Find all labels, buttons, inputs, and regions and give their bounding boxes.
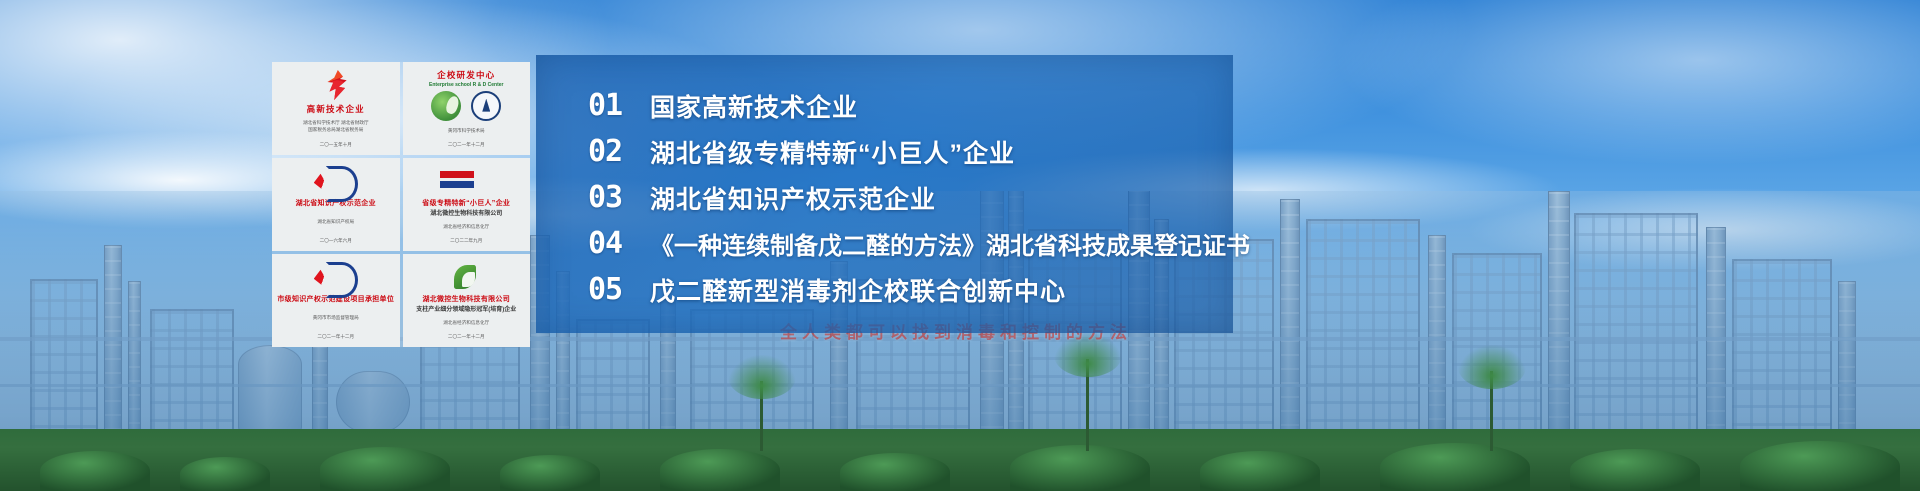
list-item-number: 02 bbox=[588, 137, 650, 167]
list-item-number: 04 bbox=[588, 229, 650, 259]
list-item: 02 湖北省级专精特新“小巨人”企业 bbox=[536, 129, 1233, 174]
certificate-issuer: 黄冈市市场监督管理局 bbox=[313, 315, 359, 324]
certificate-date: 二〇二一年十二月 bbox=[448, 334, 485, 343]
certificate-card[interactable]: 省级专精特新“小巨人”企业 湖北微控生物科技有限公司 湖北省经济和信息化厅 二〇… bbox=[403, 158, 531, 251]
certificate-issuer: 湖北省经济和信息化厅 bbox=[443, 224, 489, 233]
certificate-card[interactable]: 企校研发中心 Enterprise school R & D Center 黄冈… bbox=[403, 62, 531, 155]
certificate-date: 二〇一五年十月 bbox=[320, 142, 352, 151]
list-item: 05 戊二醛新型消毒剂企校联合创新中心 bbox=[536, 267, 1233, 312]
star-swoosh-logo-icon bbox=[312, 164, 360, 198]
list-item: 04 《一种连续制备戊二醛的方法》湖北省科技成果登记证书 bbox=[536, 221, 1233, 266]
star-swoosh-logo-icon bbox=[312, 260, 360, 294]
flame-logo-icon bbox=[323, 68, 349, 102]
certificate-subtitle: 支柱产业细分领域隐形冠军(培育)企业 bbox=[416, 306, 516, 314]
list-item-number: 05 bbox=[588, 275, 650, 305]
certificate-title: 湖北微控生物科技有限公司 bbox=[422, 296, 510, 304]
certificate-issuer: 黄冈市科学技术局 bbox=[448, 128, 485, 137]
list-item-label: 戊二醛新型消毒剂企校联合创新中心 bbox=[650, 272, 1066, 308]
list-item-label: 国家高新技术企业 bbox=[650, 88, 858, 124]
qualification-panel: 01 国家高新技术企业 02 湖北省级专精特新“小巨人”企业 03 湖北省知识产… bbox=[536, 55, 1233, 333]
certificate-subtitle: 湖北微控生物科技有限公司 bbox=[430, 210, 502, 218]
certificate-issuer: 湖北省知识产权局 bbox=[317, 219, 354, 228]
certificate-card[interactable]: 市级知识产权示范建设项目承担单位 黄冈市市场监督管理局 二〇二一年十二月 bbox=[272, 254, 400, 347]
certificate-date: 二〇二一年十二月 bbox=[448, 142, 485, 151]
list-item: 01 国家高新技术企业 bbox=[536, 83, 1233, 128]
certificate-date: 二〇二一年十二月 bbox=[317, 334, 354, 343]
leaf-logo-icon bbox=[452, 260, 480, 294]
certificate-date: 二〇二二年九月 bbox=[450, 238, 482, 247]
rd-center-logo-icon bbox=[431, 89, 501, 123]
list-item-number: 01 bbox=[588, 91, 650, 121]
certificate-title: 企校研发中心 bbox=[437, 70, 495, 80]
list-item-label: 《一种连续制备戊二醛的方法》湖北省科技成果登记证书 bbox=[650, 226, 1250, 261]
certificate-subtitle: Enterprise school R & D Center bbox=[429, 82, 503, 89]
certificate-grid: 高新技术企业 湖北省科学技术厅 湖北省财政厅国家税务总局湖北省税务局 二〇一五年… bbox=[272, 62, 530, 347]
qualification-list: 01 国家高新技术企业 02 湖北省级专精特新“小巨人”企业 03 湖北省知识产… bbox=[536, 55, 1233, 333]
promo-banner: 高新技术企业 湖北省科学技术厅 湖北省财政厅国家税务总局湖北省税务局 二〇一五年… bbox=[0, 0, 1920, 491]
list-item-label: 湖北省知识产权示范企业 bbox=[650, 180, 936, 216]
list-item: 03 湖北省知识产权示范企业 bbox=[536, 175, 1233, 220]
certificate-card[interactable]: 湖北微控生物科技有限公司 支柱产业细分领域隐形冠军(培育)企业 湖北省经济和信息… bbox=[403, 254, 531, 347]
certificate-card[interactable]: 湖北省知识产权示范企业 湖北省知识产权局 二〇一六年六月 bbox=[272, 158, 400, 251]
certificate-issuer: 湖北省科学技术厅 湖北省财政厅国家税务总局湖北省税务局 bbox=[303, 120, 369, 136]
zhuan-jing-te-xin-logo-icon bbox=[440, 164, 492, 198]
certificate-issuer: 湖北省经济和信息化厅 bbox=[443, 320, 489, 329]
certificate-date: 二〇一六年六月 bbox=[320, 238, 352, 247]
certificate-title: 省级专精特新“小巨人”企业 bbox=[422, 200, 510, 208]
list-item-number: 03 bbox=[588, 183, 650, 213]
certificate-card[interactable]: 高新技术企业 湖北省科学技术厅 湖北省财政厅国家税务总局湖北省税务局 二〇一五年… bbox=[272, 62, 400, 155]
list-item-label: 湖北省级专精特新“小巨人”企业 bbox=[650, 134, 1015, 170]
certificate-title: 高新技术企业 bbox=[307, 104, 365, 114]
